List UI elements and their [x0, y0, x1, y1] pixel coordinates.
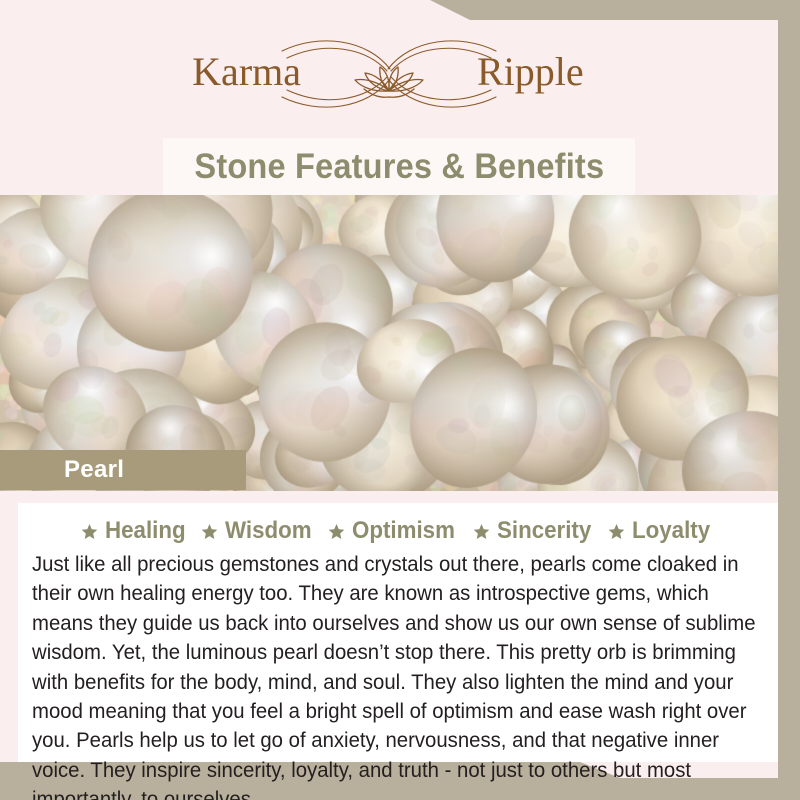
benefit-keyword-label: Sincerity [497, 517, 591, 545]
star-icon [80, 522, 99, 541]
star-icon [607, 522, 626, 541]
description-text: Just like all precious gemstones and cry… [32, 550, 767, 800]
benefit-keyword-label: Wisdom [225, 517, 312, 545]
title-banner: Stone Features & Benefits [163, 138, 635, 195]
logo-artwork: Karma Ripple [179, 29, 599, 119]
benefit-keyword-list: HealingWisdomOptimismSincerityLoyalty [18, 503, 778, 545]
infographic-root: Karma Ripple Stone Features & Benefits P… [0, 0, 800, 800]
page-title: Stone Features & Benefits [194, 147, 604, 187]
brand-word-right: Ripple [477, 49, 584, 94]
benefit-keyword-label: Optimism [352, 517, 455, 545]
benefit-keyword: Wisdom [200, 517, 318, 545]
benefit-keyword-label: Loyalty [632, 517, 710, 545]
brand-logo: Karma Ripple [0, 28, 778, 120]
pearl-photo-canvas [0, 195, 778, 491]
star-icon [327, 522, 346, 541]
benefit-keyword-label: Healing [105, 517, 186, 545]
description-card: HealingWisdomOptimismSincerityLoyalty Ju… [18, 503, 778, 762]
benefit-keyword: Sincerity [472, 517, 598, 545]
star-icon [200, 522, 219, 541]
stone-name-label: Pearl [64, 456, 124, 484]
star-icon [472, 522, 491, 541]
benefit-keyword: Optimism [327, 517, 463, 545]
benefit-keyword: Healing [80, 517, 192, 545]
stone-name-band: Pearl [0, 450, 246, 490]
stone-photo [0, 195, 778, 491]
benefit-keyword: Loyalty [607, 517, 716, 545]
brand-word-left: Karma [192, 49, 301, 94]
photo-gap-strip [0, 491, 778, 503]
